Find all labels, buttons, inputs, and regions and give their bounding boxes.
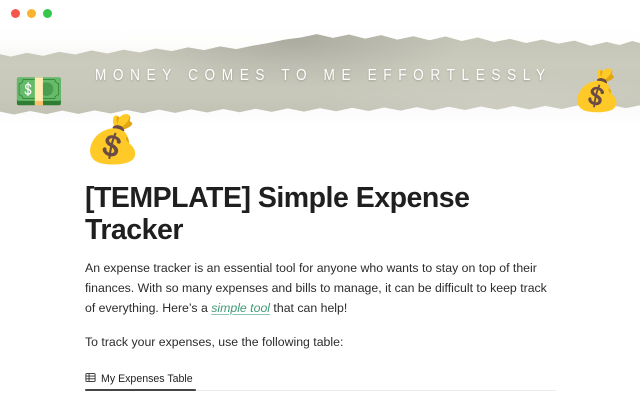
document-body: [TEMPLATE] Simple Expense Tracker An exp… [0, 125, 640, 400]
window-close-button[interactable] [11, 9, 20, 18]
database-tabstrip: My Expenses Table [85, 369, 556, 391]
tab-my-expenses-table[interactable]: My Expenses Table [85, 369, 197, 389]
intro-paragraph-text-after-link: that can help! [270, 301, 347, 315]
instruction-paragraph[interactable]: To track your expenses, use the followin… [85, 333, 556, 353]
table-grid-icon [85, 372, 96, 386]
window-minimize-button[interactable] [27, 9, 36, 18]
tab-label: My Expenses Table [101, 373, 193, 385]
money-bag-page-icon[interactable]: 💰 [84, 116, 141, 162]
tab-active-indicator [85, 389, 196, 391]
window-titlebar [0, 0, 640, 27]
intro-paragraph[interactable]: An expense tracker is an essential tool … [85, 259, 556, 319]
simple-tool-link[interactable]: simple tool [211, 301, 270, 315]
money-bag-emoji: 💰 [572, 71, 622, 111]
app-window: 💵 MONEY COMES TO ME EFFORTLESSLY 💰 💰 [TE… [0, 0, 640, 400]
window-maximize-button[interactable] [43, 9, 52, 18]
page-title[interactable]: [TEMPLATE] Simple Expense Tracker [85, 183, 556, 247]
page-cover-banner[interactable]: 💵 MONEY COMES TO ME EFFORTLESSLY 💰 [0, 27, 640, 125]
banner-title-text: MONEY COMES TO ME EFFORTLESSLY [38, 27, 601, 125]
window-traffic-lights [11, 9, 52, 18]
